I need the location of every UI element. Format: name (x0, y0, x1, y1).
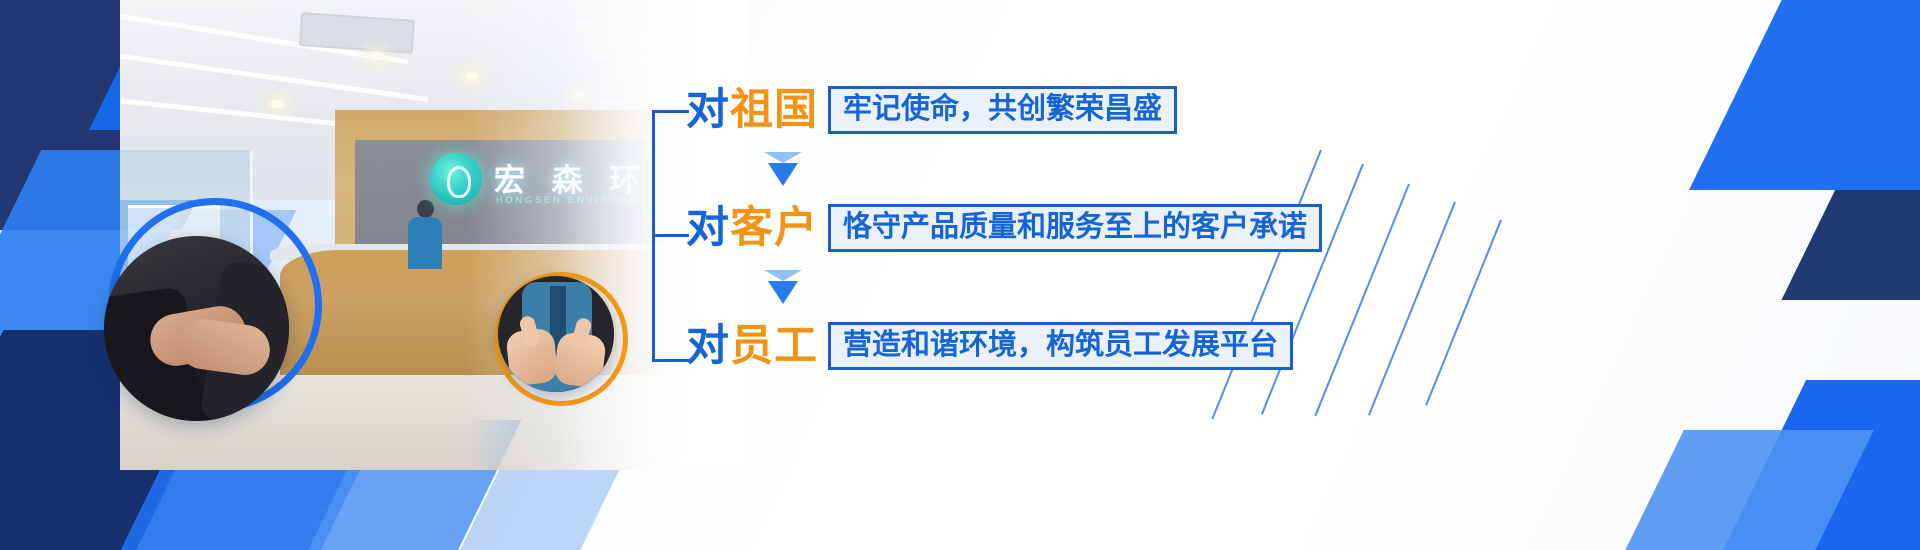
company-logo-icon (430, 153, 482, 205)
value-label-prefix: 对 (686, 322, 730, 370)
thumbsup-photo (498, 276, 614, 392)
value-label-key: 客户 (730, 204, 818, 252)
company-values-banner: 宏 森 环 保 HONGSEN ENVIRONMENTAL 对祖国 牢记使命，共… (0, 0, 1920, 550)
photo-spotlight (465, 72, 479, 80)
value-label-prefix: 对 (686, 86, 730, 134)
value-label-employee: 对员工 (686, 325, 818, 368)
value-label-key: 员工 (730, 322, 818, 370)
bracket-tick-1 (655, 110, 689, 113)
bracket-tick-3 (655, 359, 689, 362)
flow-arrow-2-wrap (686, 256, 1322, 318)
value-statement-customer: 恪守产品质量和服务至上的客户承诺 (828, 204, 1322, 252)
arrow-down-icon (764, 152, 802, 186)
handshake-photo (104, 236, 289, 421)
value-label-prefix: 对 (686, 204, 730, 252)
value-statement-country: 牢记使命，共创繁荣昌盛 (828, 86, 1177, 134)
values-bracket (652, 110, 689, 362)
value-label-key: 祖国 (730, 86, 818, 134)
values-content: 对祖国 牢记使命，共创繁荣昌盛 对客户 恪守产品质量和服务至上的客户承诺 (652, 82, 1352, 382)
value-row-country: 对祖国 牢记使命，共创繁荣昌盛 (686, 82, 1322, 138)
bracket-tick-2 (655, 234, 689, 237)
value-row-customer: 对客户 恪守产品质量和服务至上的客户承诺 (686, 200, 1322, 256)
flow-arrow-1-wrap (686, 138, 1322, 200)
values-rows: 对祖国 牢记使命，共创繁荣昌盛 对客户 恪守产品质量和服务至上的客户承诺 (686, 82, 1322, 374)
photo-spotlight (270, 100, 284, 108)
value-label-country: 对祖国 (686, 89, 818, 132)
value-row-employee: 对员工 营造和谐环境，构筑员工发展平台 (686, 318, 1322, 374)
value-statement-employee: 营造和谐环境，构筑员工发展平台 (828, 322, 1293, 370)
value-label-customer: 对客户 (686, 207, 818, 250)
photo-spotlight (370, 52, 384, 60)
arrow-down-icon (764, 270, 802, 304)
